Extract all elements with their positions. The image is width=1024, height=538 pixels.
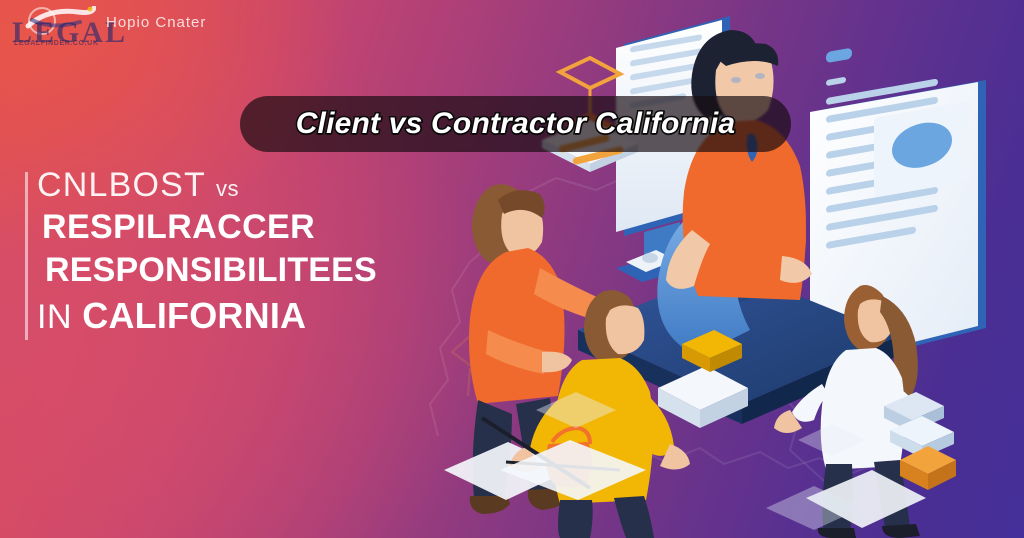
title-overlay-pill: Client vs Contractor California xyxy=(240,96,791,152)
accent-rule xyxy=(25,172,28,340)
site-logo[interactable]: LEGAL LEGALFINDER.CO.UK Hopio Cnater xyxy=(6,4,216,50)
headline-line-4-strong: CALIFORNIA xyxy=(82,295,306,336)
title-overlay-text: Client vs Contractor California xyxy=(296,107,736,141)
headline-line-1-small: vs xyxy=(216,176,239,201)
headline-line-1-main: CNLBOST xyxy=(37,166,205,204)
logo-tagline: Hopio Cnater xyxy=(106,14,206,31)
logo-subtext: LEGALFINDER.CO.UK xyxy=(14,40,98,47)
headline-line-1: CNLBOST vs xyxy=(25,168,455,203)
headline-block: CNLBOST vs RESPILRACCER RESPONSIBILITEES… xyxy=(25,168,455,335)
headline-line-2: RESPILRACCER xyxy=(25,210,455,245)
headline-line-4: IN CALIFORNIA xyxy=(25,298,455,335)
banner-root: CNLBOST vs RESPILRACCER RESPONSIBILITEES… xyxy=(0,0,1024,538)
isometric-illustration xyxy=(430,0,1024,538)
headline-line-3: RESPONSIBILITEES xyxy=(25,253,455,288)
headline-line-4-prefix: IN xyxy=(37,298,72,336)
